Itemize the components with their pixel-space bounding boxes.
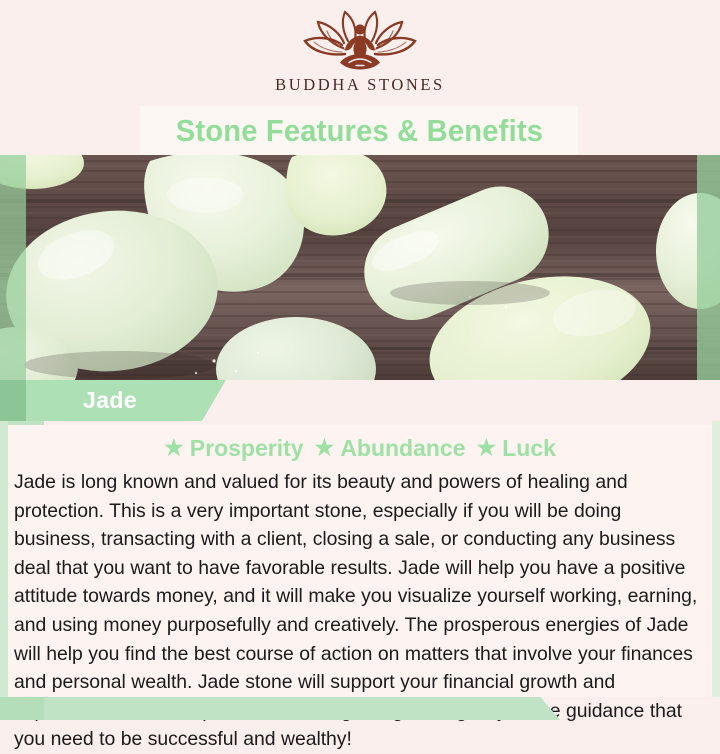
jade-stones-illustration — [0, 155, 720, 380]
benefits-row: ★ Prosperity ★ Abundance ★ Luck — [8, 425, 712, 465]
hero-left-overlay — [0, 155, 26, 380]
brand-wordmark: BUDDHA STONES — [275, 77, 445, 94]
jade-band-left-cap — [0, 380, 26, 421]
benefit-label: Abundance — [340, 437, 465, 460]
benefit-label: Luck — [502, 437, 556, 460]
content-right-edge — [712, 421, 720, 697]
star-icon: ★ — [315, 437, 335, 459]
stone-name: Jade — [83, 389, 137, 412]
section-title-banner: Stone Features & Benefits — [140, 106, 578, 155]
benefit-item-prosperity: ★ Prosperity — [164, 437, 304, 460]
star-icon: ★ — [477, 437, 497, 459]
bottom-accent-band-cap — [0, 697, 44, 720]
page-root: BUDDHA STONES Stone Features & Benefits — [0, 0, 720, 720]
benefit-item-abundance: ★ Abundance — [315, 437, 466, 460]
content-panel: ★ Prosperity ★ Abundance ★ Luck Jade is … — [8, 425, 712, 697]
content-left-edge — [0, 421, 8, 697]
star-icon: ★ — [164, 437, 184, 459]
page-title: Stone Features & Benefits — [175, 115, 542, 146]
brand-logo: BUDDHA STONES — [0, 10, 720, 105]
stone-name-band: Jade — [26, 380, 226, 421]
benefit-label: Prosperity — [190, 437, 304, 460]
benefit-item-luck: ★ Luck — [477, 437, 556, 460]
hero-image — [0, 155, 720, 380]
lotus-meditation-icon — [296, 10, 424, 76]
hero-right-overlay — [697, 155, 720, 380]
bottom-accent-band — [0, 697, 560, 720]
